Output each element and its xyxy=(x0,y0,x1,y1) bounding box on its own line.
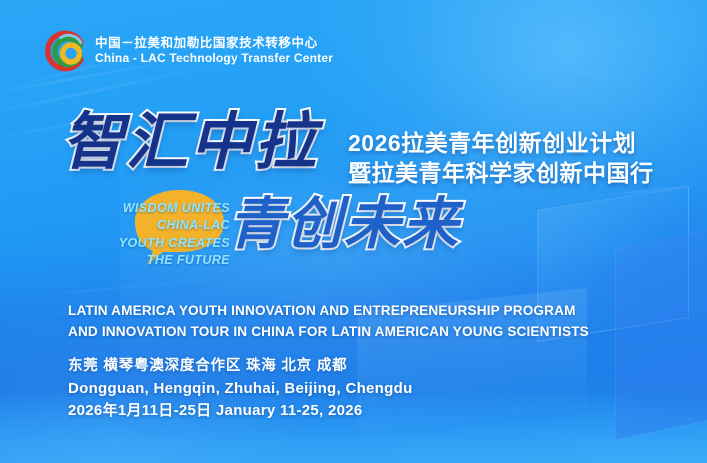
event-dates: 2026年1月11日-25日 January 11-25, 2026 xyxy=(68,400,413,423)
headline-secondary: 青创未来 xyxy=(228,196,460,252)
logo-name-cn: 中国－拉美和加勒比国家技术转移中心 xyxy=(95,36,333,50)
headline-primary: 智汇中拉 xyxy=(62,112,318,174)
venue-and-date-block: 东莞 横琴粤澳深度合作区 珠海 北京 成都 Dongguan, Hengqin,… xyxy=(68,356,413,423)
light-streak xyxy=(0,274,269,302)
tagline-line-1: WISDOM UNITES xyxy=(84,200,230,217)
logo-name-en: China - LAC Technology Transfer Center xyxy=(95,52,333,66)
program-description-en-line-1: LATIN AMERICA YOUTH INNOVATION AND ENTRE… xyxy=(68,300,589,321)
organization-logo-lockup: 中国－拉美和加勒比国家技术转移中心 China - LAC Technology… xyxy=(44,30,333,72)
tagline-line-2: CHINA-LAC xyxy=(84,217,230,234)
tagline-line-4: THE FUTURE xyxy=(84,252,230,269)
program-subtitle-cn-line-1: 2026拉美青年创新创业计划 xyxy=(348,128,654,158)
english-tagline: WISDOM UNITES CHINA-LAC YOUTH CREATES TH… xyxy=(84,200,230,269)
promotional-banner: 中国－拉美和加勒比国家技术转移中心 China - LAC Technology… xyxy=(0,0,707,463)
decorative-panel-right xyxy=(615,223,707,441)
venue-cities-cn: 东莞 横琴粤澳深度合作区 珠海 北京 成都 xyxy=(68,356,413,378)
program-subtitle-cn: 2026拉美青年创新创业计划 暨拉美青年科学家创新中国行 xyxy=(348,128,654,189)
light-streak xyxy=(497,60,666,86)
venue-cities-en: Dongguan, Hengqin, Zhuhai, Beijing, Chen… xyxy=(68,378,413,401)
logo-text: 中国－拉美和加勒比国家技术转移中心 China - LAC Technology… xyxy=(95,36,333,66)
tagline-line-3: YOUTH CREATES xyxy=(84,235,230,252)
program-subtitle-cn-line-2: 暨拉美青年科学家创新中国行 xyxy=(348,158,654,188)
program-description-en: LATIN AMERICA YOUTH INNOVATION AND ENTRE… xyxy=(68,300,589,343)
china-lac-c-logo-icon xyxy=(44,30,86,72)
program-description-en-line-2: AND INNOVATION TOUR IN CHINA FOR LATIN A… xyxy=(68,321,589,342)
